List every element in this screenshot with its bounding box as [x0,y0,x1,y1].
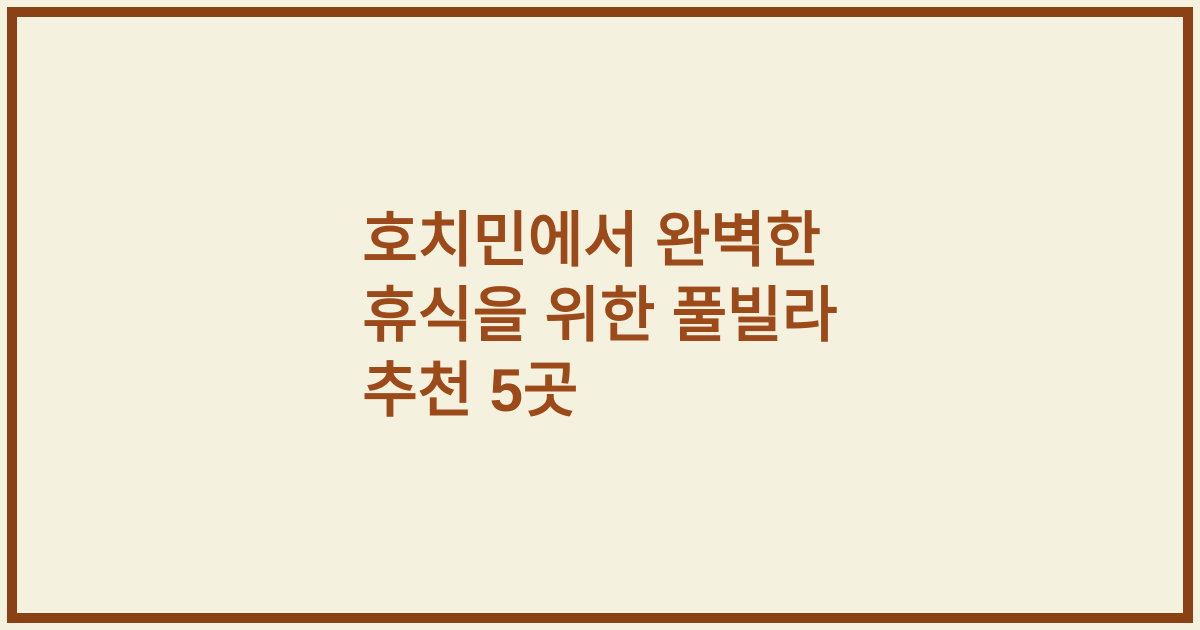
title-line-2: 휴식을 위한 풀빌라 [363,278,838,353]
title-block: 호치민에서 완벽한 휴식을 위한 풀빌라 추천 5곳 [0,0,1200,630]
thumbnail-card: 호치민에서 완벽한 휴식을 위한 풀빌라 추천 5곳 [0,0,1200,630]
title-line-3: 추천 5곳 [363,353,838,428]
title-line-1: 호치민에서 완벽한 [363,203,838,278]
page-title: 호치민에서 완벽한 휴식을 위한 풀빌라 추천 5곳 [363,203,838,428]
